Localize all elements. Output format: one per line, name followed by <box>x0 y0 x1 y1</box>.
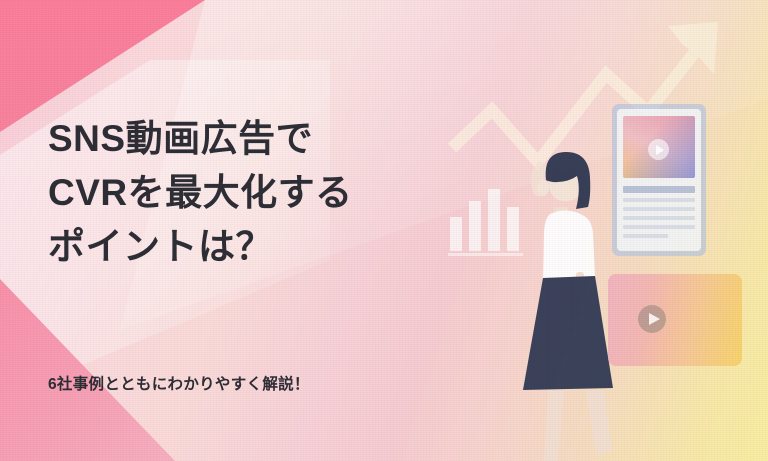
phone-text-lines <box>623 186 695 243</box>
page-title: SNS動画広告で CVRを最大化する ポイントは？ <box>48 112 353 274</box>
play-icon <box>648 139 669 160</box>
text-line <box>623 186 695 193</box>
hero-illustration <box>430 0 768 461</box>
text-line <box>623 216 695 220</box>
banner-root: SNS動画広告で CVRを最大化する ポイントは？ 6社事例とともにわかりやすく… <box>0 0 768 461</box>
page-subtitle: 6社事例とともにわかりやすく解説！ <box>48 372 310 394</box>
text-line <box>623 207 695 211</box>
text-line <box>623 198 695 202</box>
headline-block: SNS動画広告で CVRを最大化する ポイントは？ <box>48 112 353 274</box>
video-ad-card <box>608 274 742 366</box>
play-icon <box>638 305 666 333</box>
person-figure <box>516 152 615 461</box>
text-line <box>623 234 668 238</box>
bar-chart-icon <box>448 189 523 256</box>
text-line <box>623 225 695 229</box>
background-wedge-bottom-left <box>0 261 230 461</box>
